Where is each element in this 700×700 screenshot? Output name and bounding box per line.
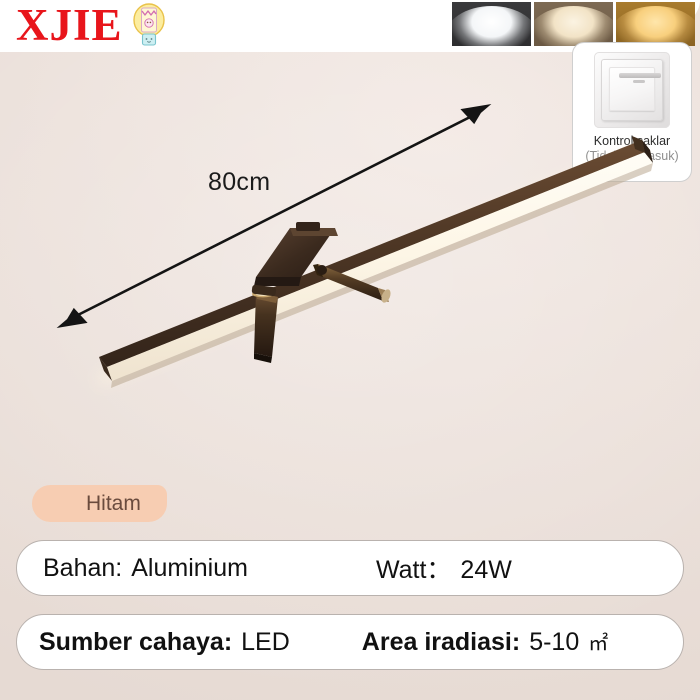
light-cone (452, 6, 531, 46)
spec-material: Bahan: Aluminium (43, 554, 248, 583)
switch-card-note: (Tidak termasuk) (585, 149, 678, 164)
brand-logo: XJIE (16, 2, 169, 48)
light-cone (534, 6, 613, 46)
spec-watt: Watt： 24W (376, 550, 512, 586)
spec-material-key: Bahan: (43, 554, 122, 583)
brand-name: XJIE (16, 3, 123, 48)
spec-watt-key: Watt： (376, 550, 451, 586)
color-badge: Hitam (32, 485, 167, 522)
switch-rocker (609, 67, 655, 111)
light-cone (616, 6, 695, 46)
cct-swatch-warm-white (616, 2, 695, 46)
cct-swatch-cool-white (452, 2, 531, 46)
spec-irradiation-area: Area iradiasi: 5-10 ㎡ (362, 627, 608, 657)
spec-watt-value: 24W (460, 556, 511, 585)
product-image-canvas: XJIE (0, 0, 700, 700)
lightbulb-icon (129, 2, 169, 48)
spec-material-value: Aluminium (131, 554, 248, 583)
spec-light-source: Sumber cahaya: LED (39, 628, 290, 657)
spec-irradiation-area-value: 5-10 (529, 628, 579, 657)
wall-switch-image (594, 52, 670, 128)
switch-indicator (633, 80, 645, 83)
dimension-label: 80cm (208, 168, 270, 197)
switch-slot (619, 73, 661, 78)
spec-row-material-watt: Bahan: Aluminium Watt： 24W (16, 540, 684, 596)
spec-light-source-key: Sumber cahaya: (39, 628, 232, 657)
color-temperature-strip (452, 2, 695, 46)
switch-faceplate (601, 59, 663, 121)
spec-light-source-value: LED (241, 628, 290, 657)
spec-irradiation-area-key: Area iradiasi: (362, 628, 520, 657)
spec-irradiation-area-unit: ㎡ (588, 627, 608, 656)
switch-card-label: Kontrol saklar (594, 134, 670, 149)
spec-row-source-area: Sumber cahaya: LED Area iradiasi: 5-10 ㎡ (16, 614, 684, 670)
switch-control-card: Kontrol saklar (Tidak termasuk) (572, 42, 692, 182)
cct-swatch-neutral-white (534, 2, 613, 46)
